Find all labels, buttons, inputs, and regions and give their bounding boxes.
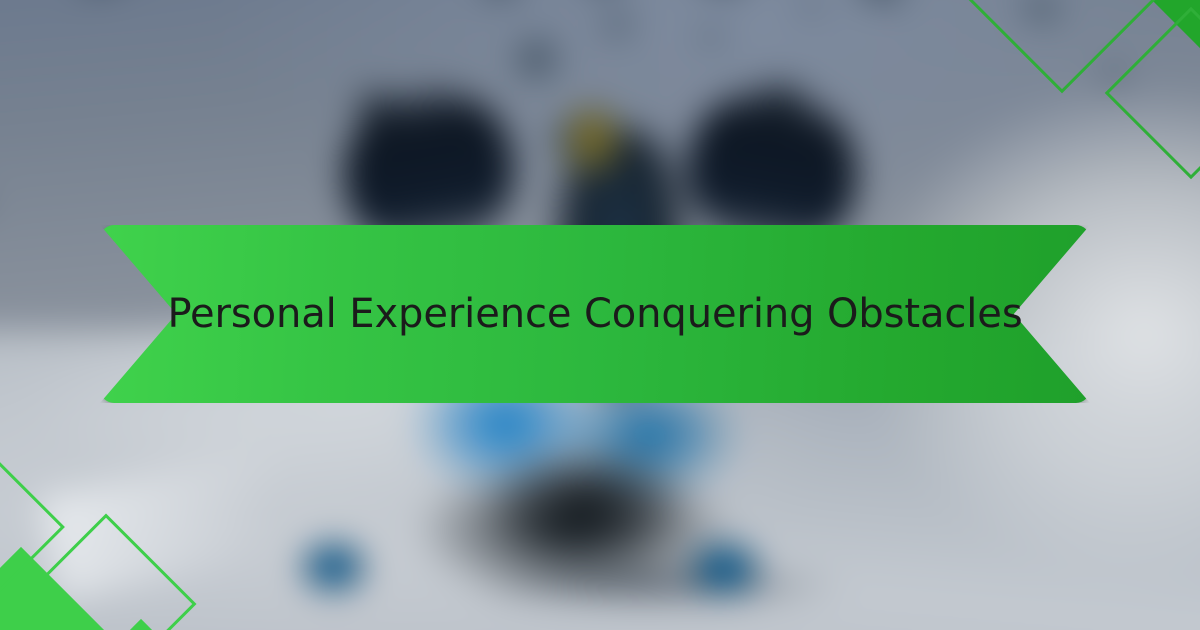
photo-debris-speck <box>801 0 822 15</box>
title-ribbon: Personal Experience Conquering Obstacles <box>100 225 1090 403</box>
photo-ski-right <box>686 540 772 604</box>
photo-sit-ski-frame <box>468 435 706 570</box>
photo-athlete-right-glove <box>752 79 811 128</box>
banner-canvas: Personal Experience Conquering Obstacles <box>0 0 1200 630</box>
photo-debris-speck <box>700 29 724 46</box>
photo-ski-left <box>290 540 369 600</box>
page-title: Personal Experience Conquering Obstacles <box>100 225 1090 403</box>
photo-athlete-left-glove <box>349 86 402 131</box>
